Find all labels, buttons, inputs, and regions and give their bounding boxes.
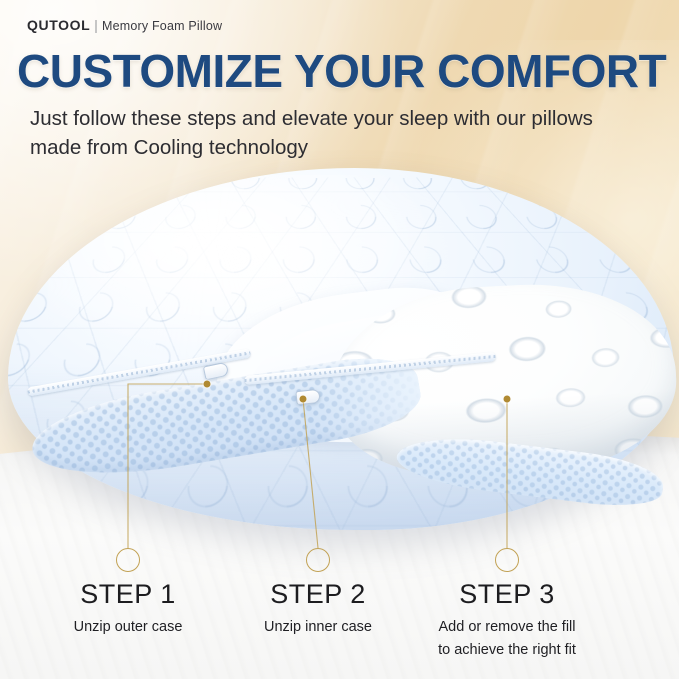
step-3-description-line-2: to achieve the right fit <box>438 640 576 661</box>
step-1: STEP 1 Unzip outer case <box>74 581 183 638</box>
callout-ring-step-3 <box>495 548 519 572</box>
product-name: Memory Foam Pillow <box>102 19 222 33</box>
step-3: STEP 3 Add or remove the fill to achieve… <box>438 581 576 660</box>
callout-dot-step-2 <box>300 396 307 403</box>
step-1-description: Unzip outer case <box>74 617 183 638</box>
callout-ring-step-2 <box>306 548 330 572</box>
step-3-description-line-1: Add or remove the fill <box>438 617 576 638</box>
pillow-product-image <box>8 168 674 530</box>
brand-name: QUTOOL <box>27 17 90 33</box>
page-subtitle: Just follow these steps and elevate your… <box>30 104 630 162</box>
callout-dot-step-1 <box>204 381 211 388</box>
step-2-title: STEP 2 <box>264 581 372 608</box>
step-1-title: STEP 1 <box>74 581 183 608</box>
callout-ring-step-1 <box>116 548 140 572</box>
step-2-description: Unzip inner case <box>264 617 372 638</box>
marketing-infographic: QUTOOL|Memory Foam Pillow CUSTOMIZE YOUR… <box>0 0 679 679</box>
page-title: CUSTOMIZE YOUR COMFORT <box>17 48 667 94</box>
step-2: STEP 2 Unzip inner case <box>264 581 372 638</box>
brand-lockup: QUTOOL|Memory Foam Pillow <box>27 17 222 33</box>
brand-separator: | <box>94 18 98 33</box>
step-3-title: STEP 3 <box>438 581 576 608</box>
callout-dot-step-3 <box>504 396 511 403</box>
